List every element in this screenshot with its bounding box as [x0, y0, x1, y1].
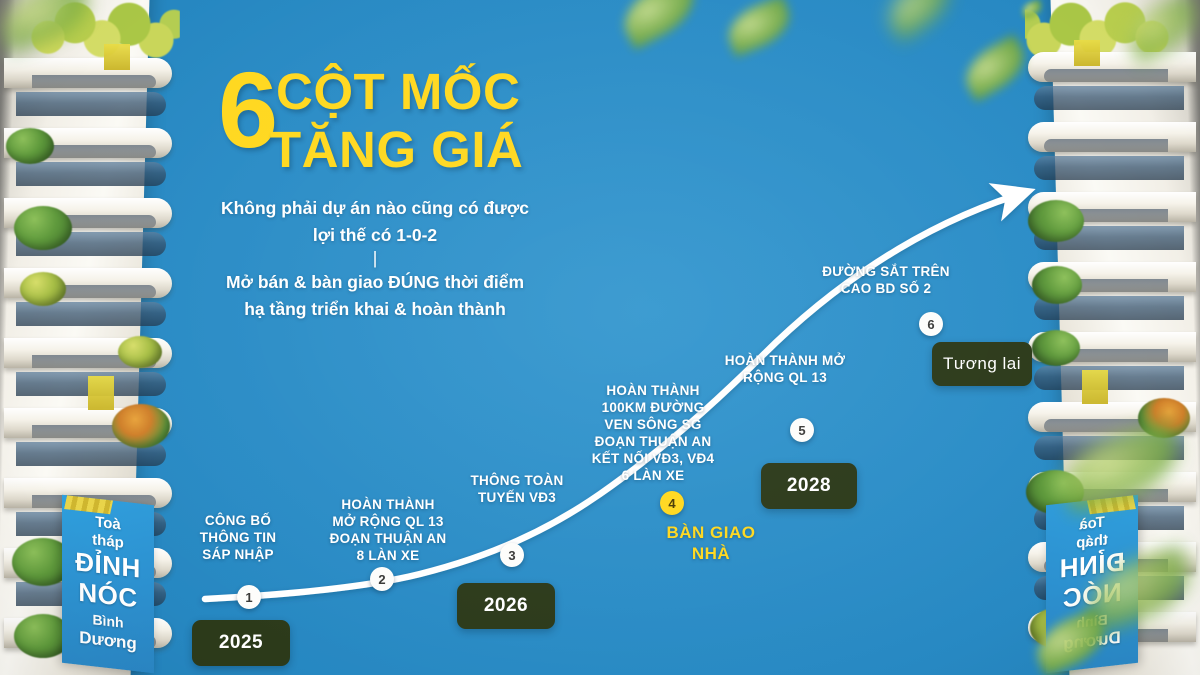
- infographic-stage: Toà tháp ĐỈNH NÓC Bình Dương: [0, 0, 1200, 675]
- milestone-caption-5: HOÀN THÀNH MỞ RỘNG QL 13: [700, 352, 870, 386]
- milestone-node-1[interactable]: 1: [237, 585, 261, 609]
- milestone-caption-4: HOÀN THÀNH 100KM ĐƯỜNG VEN SÔNG SG ĐOẠN …: [570, 382, 736, 484]
- milestone-node-6[interactable]: 6: [919, 312, 943, 336]
- headline-line-2: TĂNG GIÁ: [270, 124, 523, 175]
- milestone-caption-3: THÔNG TOÀN TUYẾN VĐ3: [452, 472, 582, 506]
- subtitle-line-2: lợi thế có 1-0-2: [160, 222, 590, 249]
- headline-block: 6 CỘT MỐC TĂNG GIÁ: [208, 62, 638, 134]
- milestone-caption-1: CÔNG BỐ THÔNG TIN SÁP NHẬP: [176, 512, 300, 563]
- milestone-node-2[interactable]: 2: [370, 567, 394, 591]
- year-badge-tuong-lai[interactable]: Tương lai: [932, 342, 1032, 386]
- headline-line-1: CỘT MỐC: [276, 66, 520, 117]
- milestone-accent-caption-4: BÀN GIAO NHÀ: [636, 522, 786, 565]
- year-badge-2026[interactable]: 2026: [457, 583, 555, 629]
- milestone-node-5[interactable]: 5: [790, 418, 814, 442]
- milestone-node-3[interactable]: 3: [500, 543, 524, 567]
- subtitle-line-3: Mở bán & bàn giao ĐÚNG thời điểm: [160, 269, 590, 296]
- year-badge-2028[interactable]: 2028: [761, 463, 857, 509]
- milestone-node-4[interactable]: 4: [660, 491, 684, 515]
- year-badge-2025[interactable]: 2025: [192, 620, 290, 666]
- milestone-caption-2: HOÀN THÀNH MỞ RỘNG QL 13 ĐOẠN THUẬN AN 8…: [310, 496, 466, 564]
- headline-number: 6: [218, 56, 275, 164]
- subtitle-block: Không phải dự án nào cũng có được lợi th…: [160, 195, 590, 322]
- subtitle-divider: |: [160, 248, 590, 269]
- subtitle-line-1: Không phải dự án nào cũng có được: [160, 195, 590, 222]
- milestone-caption-6: ĐƯỜNG SẮT TRÊN CAO BD SỐ 2: [800, 263, 972, 297]
- subtitle-line-4: hạ tầng triển khai & hoàn thành: [160, 296, 590, 323]
